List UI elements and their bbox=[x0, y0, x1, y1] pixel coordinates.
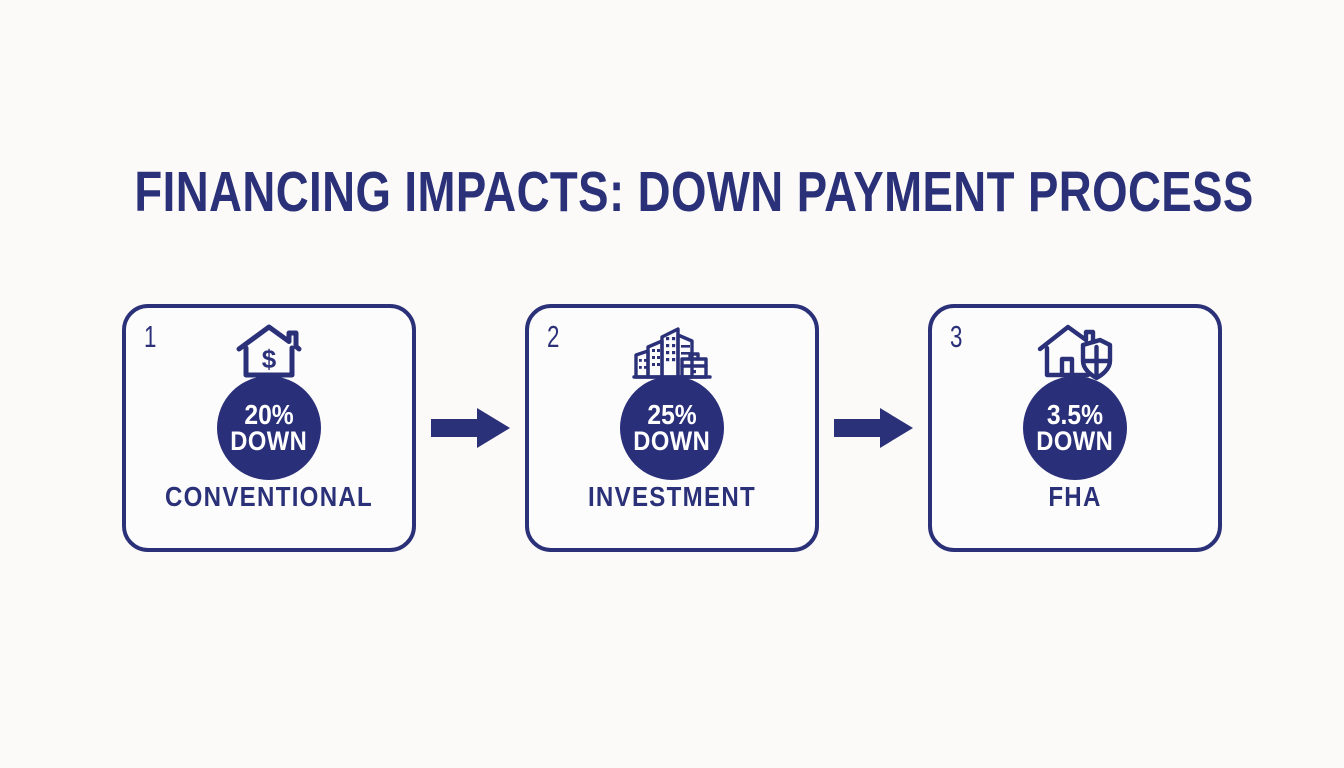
step-card-conventional[interactable]: 1 $ 20% DOWN CONVENTIONAL bbox=[122, 304, 416, 552]
down-payment-word: DOWN bbox=[230, 428, 307, 455]
page-title: FINANCING IMPACTS: DOWN PAYMENT PROCESS bbox=[134, 160, 1209, 224]
step-card-investment[interactable]: 2 bbox=[525, 304, 819, 552]
down-payment-badge: 20% DOWN bbox=[217, 376, 321, 480]
down-payment-word: DOWN bbox=[633, 428, 710, 455]
step-label: INVESTMENT bbox=[549, 482, 795, 512]
down-payment-percent: 20% bbox=[244, 401, 293, 428]
down-payment-word: DOWN bbox=[1036, 428, 1113, 455]
step-label: FHA bbox=[952, 482, 1198, 512]
arrow-right-icon bbox=[431, 405, 511, 451]
down-payment-badge: 25% DOWN bbox=[620, 376, 724, 480]
step-label: CONVENTIONAL bbox=[146, 482, 392, 512]
down-payment-percent: 25% bbox=[647, 401, 696, 428]
down-payment-badge: 3.5% DOWN bbox=[1023, 376, 1127, 480]
svg-text:$: $ bbox=[262, 344, 277, 374]
down-payment-percent: 3.5% bbox=[1047, 401, 1103, 428]
arrow-right-icon bbox=[834, 405, 914, 451]
step-card-fha[interactable]: 3 3.5% DOWN FHA bbox=[928, 304, 1222, 552]
process-steps-row: 1 $ 20% DOWN CONVENTIONAL 2 bbox=[122, 304, 1222, 552]
infographic-canvas: FINANCING IMPACTS: DOWN PAYMENT PROCESS … bbox=[0, 0, 1344, 768]
